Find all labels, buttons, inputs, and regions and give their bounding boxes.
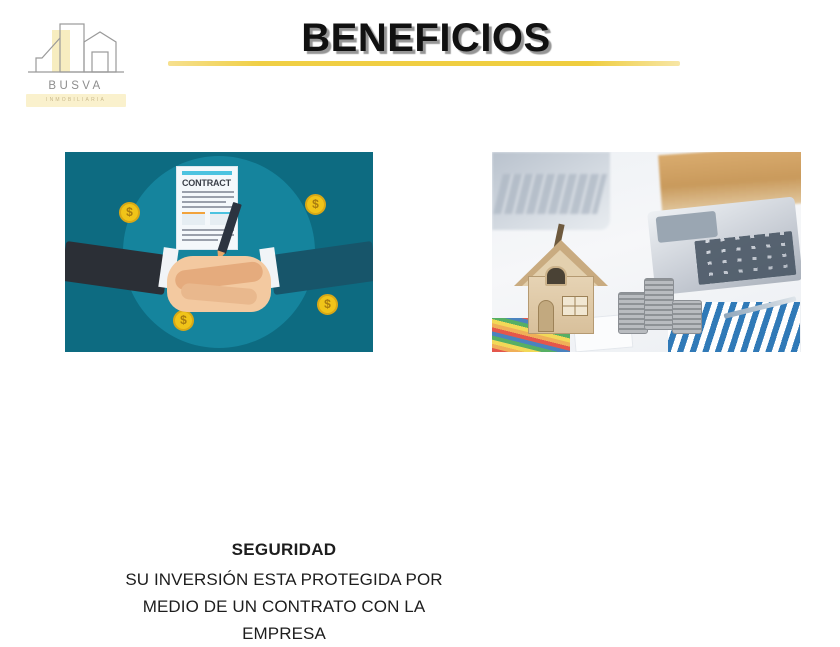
- contract-text-line: [182, 206, 234, 208]
- wooden-house-model-icon: [514, 222, 606, 334]
- brand-logo: BUSVA INMOBILIARIA: [22, 22, 130, 110]
- house-window: [562, 296, 588, 316]
- title-underline-rule: [168, 61, 680, 66]
- contract-document-title: CONTRACT: [182, 178, 231, 188]
- coin-stack: [672, 300, 702, 334]
- contract-text-line: [182, 239, 218, 241]
- calculator-screen: [656, 211, 718, 243]
- contract-text-line: [182, 196, 234, 198]
- benefit-body-line: MEDIO DE UN CONTRATO CON LA: [94, 593, 474, 620]
- dollar-coin-icon: $: [173, 310, 194, 331]
- laptop-keyboard: [493, 174, 607, 214]
- dollar-coin-icon: $: [317, 294, 338, 315]
- dollar-coin-icon: $: [305, 194, 326, 215]
- page-title: BENEFICIOS: [170, 16, 682, 61]
- calculator-keypad: [694, 231, 796, 285]
- logo-tagline: INMOBILIARIA: [22, 94, 130, 107]
- benefit-column-seguridad: $ $ $ $ CONTRACT SEGURIDAD SU INVERSIÓN …: [65, 152, 373, 352]
- logo-wordmark: BUSVA: [22, 80, 130, 92]
- dollar-coin-icon: $: [119, 202, 140, 223]
- coin-stack: [644, 278, 674, 330]
- benefit-heading: SEGURIDAD: [94, 540, 474, 560]
- wooden-house-coins-calculator-photo: [492, 152, 801, 352]
- laptop-icon: [492, 152, 610, 230]
- contract-text-line: [182, 191, 234, 193]
- house-attic-window: [545, 266, 567, 286]
- benefit-body: SU INVERSIÓN ESTA PROTEGIDA POR MEDIO DE…: [94, 566, 474, 647]
- house-door: [538, 300, 554, 332]
- building-outline-icon: [22, 22, 130, 82]
- handshake-contract-illustration: $ $ $ $ CONTRACT: [65, 152, 373, 352]
- benefit-body-line: EMPRESA: [94, 620, 474, 647]
- benefit-column-ahorro: AHORRO PRECIOS MUY POR DE BAJO DEL VALOR…: [492, 152, 801, 352]
- contract-text-line: [182, 201, 226, 203]
- contract-field-box: [182, 212, 205, 225]
- handshake-icon: [167, 256, 271, 312]
- benefit-caption-seguridad: SEGURIDAD SU INVERSIÓN ESTA PROTEGIDA PO…: [94, 540, 474, 647]
- benefit-body-line: SU INVERSIÓN ESTA PROTEGIDA POR: [94, 566, 474, 593]
- contract-header-bar: [182, 171, 232, 175]
